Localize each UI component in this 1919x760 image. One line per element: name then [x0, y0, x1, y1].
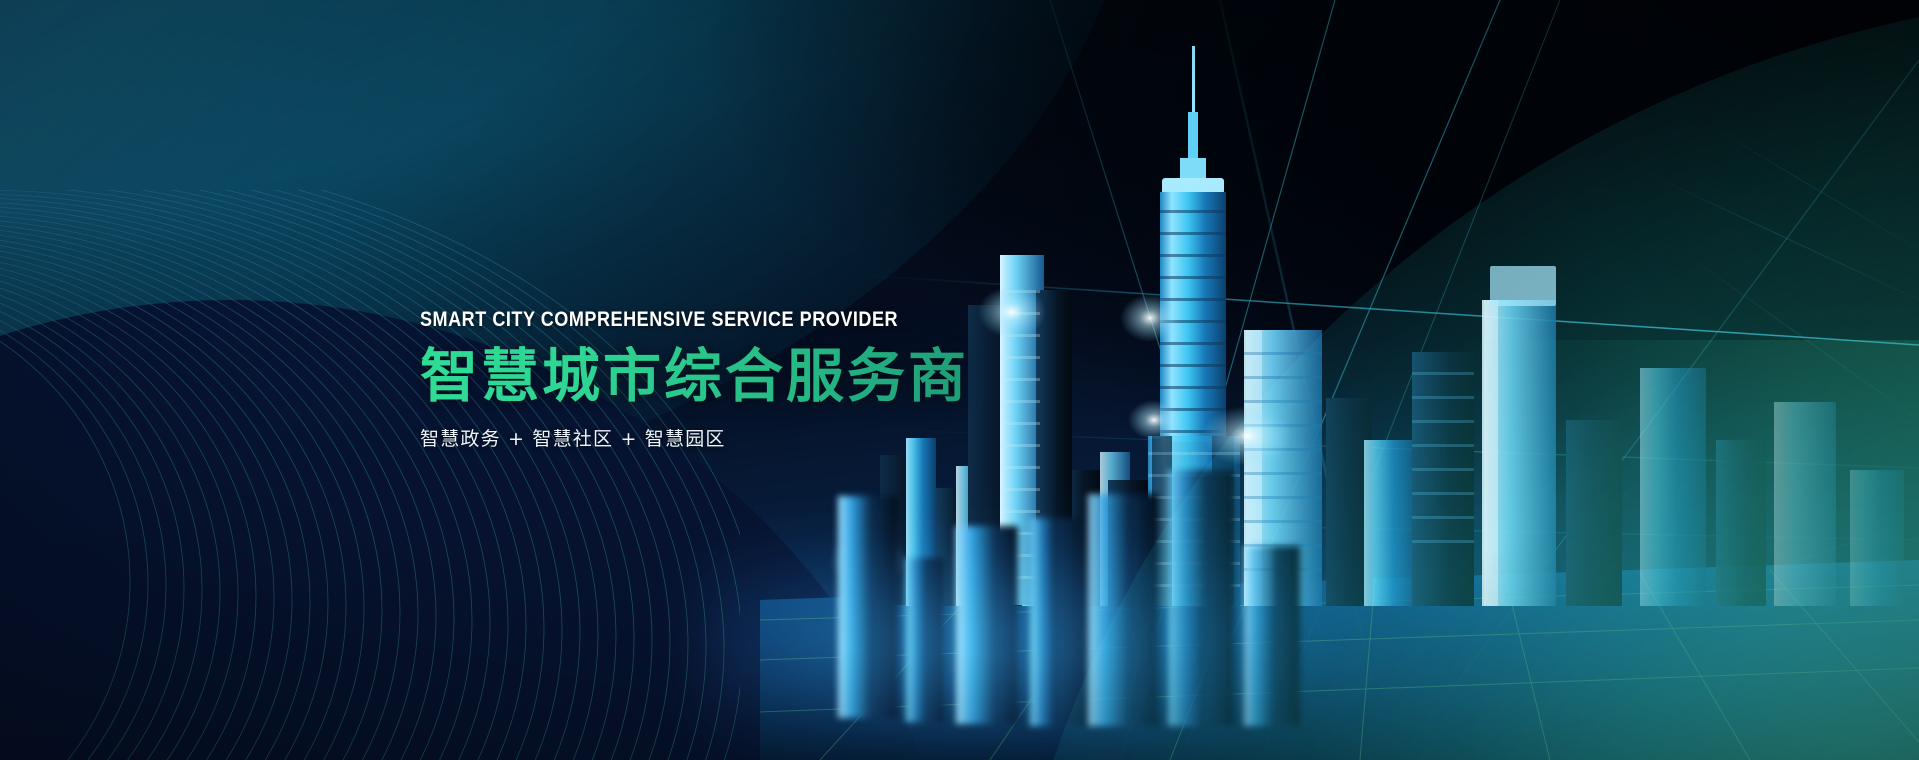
- mesh-lines-decor: [0, 190, 740, 760]
- hero-eyebrow: SMART CITY COMPREHENSIVE SERVICE PROVIDE…: [420, 308, 1074, 332]
- hero-headline: 智慧城市综合服务商: [420, 346, 1180, 407]
- hero-copy-block: SMART CITY COMPREHENSIVE SERVICE PROVIDE…: [420, 308, 1180, 451]
- hero-banner: SMART CITY COMPREHENSIVE SERVICE PROVIDE…: [0, 0, 1919, 760]
- hero-subline: 智慧政务 + 智慧社区 + 智慧园区: [420, 424, 1180, 451]
